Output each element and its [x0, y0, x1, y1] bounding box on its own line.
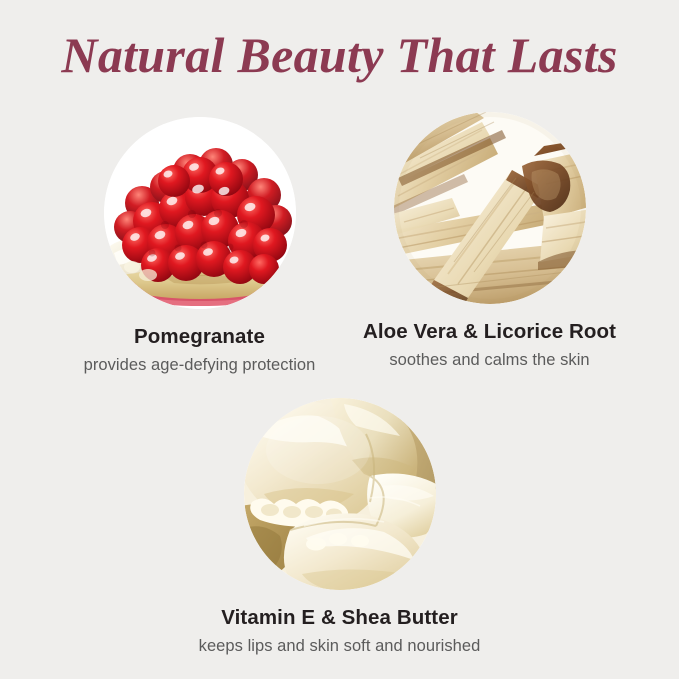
ingredient-name: Aloe Vera & Licorice Root	[312, 320, 667, 345]
licorice-root-photo	[394, 112, 586, 304]
ingredient-name: Vitamin E & Shea Butter	[162, 606, 517, 631]
licorice-root-thumbnail	[394, 112, 586, 304]
shea-butter-caption: Vitamin E & Shea Butter keeps lips and s…	[162, 606, 517, 656]
ingredient-description: soothes and calms the skin	[312, 350, 667, 371]
pomegranate-thumbnail	[104, 117, 296, 309]
ingredient-card-shea-butter: Vitamin E & Shea Butter keeps lips and s…	[162, 398, 517, 656]
page-title: Natural Beauty That Lasts	[0, 28, 679, 83]
pomegranate-photo	[104, 117, 296, 309]
ingredient-description: keeps lips and skin soft and nourished	[162, 636, 517, 657]
shea-butter-photo	[244, 398, 436, 590]
ingredient-card-licorice-root: Aloe Vera & Licorice Root soothes and ca…	[312, 112, 667, 370]
ingredient-benefits-panel: Natural Beauty That Lasts	[0, 0, 679, 679]
shea-butter-thumbnail	[244, 398, 436, 590]
licorice-root-caption: Aloe Vera & Licorice Root soothes and ca…	[312, 320, 667, 370]
